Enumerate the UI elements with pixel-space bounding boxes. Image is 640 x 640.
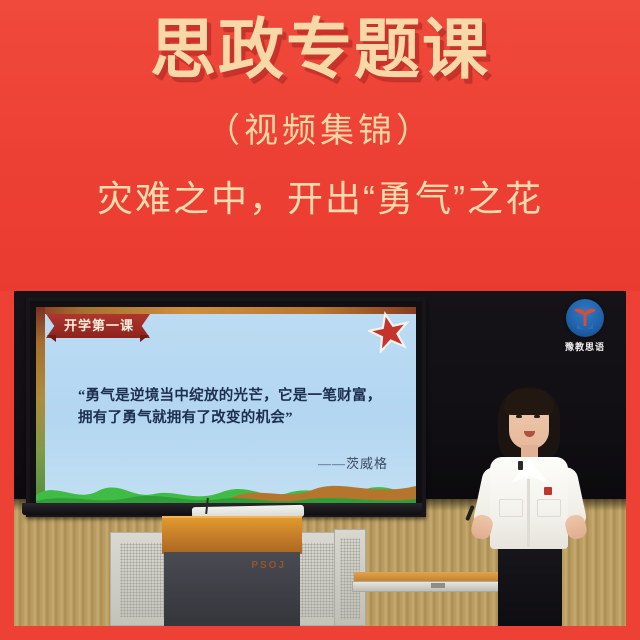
page-subtitle: （视频集锦）	[0, 103, 640, 152]
header-banner: 思政专题课 （视频集锦） 灾难之中，开出“勇气”之花	[0, 0, 640, 291]
slide-ribbon-label: 开学第一课	[46, 314, 150, 338]
presentation-slide: 开学第一课 “勇气是逆境当中绽放的光芒，它是一笔财富，拥有了勇气就拥有了改变的机…	[36, 307, 416, 507]
teacher-pocket-left	[499, 499, 523, 517]
podium-body: PSOJ	[164, 552, 300, 626]
channel-logo-mark-icon	[566, 299, 604, 337]
slide-border-top	[36, 307, 416, 314]
teacher-eye-right	[534, 415, 540, 418]
page-tagline: 灾难之中，开出“勇气”之花	[0, 170, 640, 222]
classroom-photo: 开学第一课 “勇气是逆境当中绽放的光芒，它是一笔财富，拥有了勇气就拥有了改变的机…	[14, 291, 626, 626]
slide-quote-text: “勇气是逆境当中绽放的光芒，它是一笔财富，拥有了勇气就拥有了改变的机会”	[78, 385, 388, 430]
slide-quote-attribution: ——茨威格	[78, 453, 388, 472]
teacher-pocket-right	[537, 499, 561, 517]
podium-top-surface	[162, 516, 302, 554]
podium-brand-label: PSOJ	[251, 560, 286, 571]
channel-brand-label: 豫教思语	[558, 340, 612, 353]
red-star-icon	[368, 311, 410, 353]
teacher-lapel-microphone-icon	[518, 461, 523, 470]
teacher-blouse-placket	[527, 479, 530, 547]
projection-board: 开学第一课 “勇气是逆境当中绽放的光芒，它是一笔财富，拥有了勇气就拥有了改变的机…	[26, 297, 426, 517]
teacher-eye-left	[516, 415, 522, 418]
teacher-lapel-badge	[544, 487, 552, 495]
poster-root: 思政专题课 （视频集锦） 灾难之中，开出“勇气”之花 开学第一课 “勇气是逆境当…	[0, 0, 640, 640]
teacher-figure	[462, 387, 596, 626]
ribbon-tail-left	[47, 335, 56, 342]
page-title: 思政专题课	[0, 8, 640, 91]
teacher-skirt	[498, 545, 562, 626]
logo-glyph-icon	[572, 305, 598, 331]
lecture-podium: PSOJ	[162, 516, 302, 626]
channel-watermark: 豫教思语	[558, 299, 612, 353]
desk-rail-handle	[431, 583, 445, 588]
teacher-hair-front	[504, 389, 554, 415]
ribbon-tail-right	[140, 335, 149, 342]
